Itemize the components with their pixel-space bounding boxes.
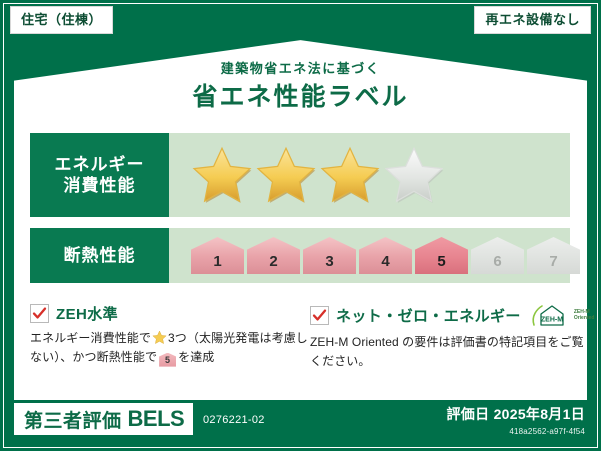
third-party-evaluation-badge: 第三者評価 BELS (14, 403, 193, 435)
zeh-standard-block: ZEH水準 エネルギー消費性能で3つ（太陽光発電は考慮しない）、かつ断熱性能で5… (30, 303, 308, 367)
star-rating (191, 145, 445, 205)
insulation-grade-2: 2 (247, 237, 300, 274)
energy-performance-row: エネルギー 消費性能 (30, 133, 570, 217)
zeh-m-logo: ZEH-M ZEH-M Oriented (531, 303, 595, 328)
energy-label-line1: エネルギー (55, 154, 145, 175)
insulation-label: 断熱性能 (64, 245, 136, 266)
net-zero-energy-checkbox[interactable] (310, 306, 329, 325)
insulation-performance-row: 断熱性能 1234567 (30, 228, 570, 283)
bels-certificate-number: 0276221-02 (203, 414, 265, 426)
zeh-m-sub-line2: Oriented (574, 315, 595, 321)
zeh-desc-grade-badge: 5 (159, 353, 176, 367)
page-title: 省エネ性能ラベル (0, 77, 601, 113)
bels-logo: BELS (128, 406, 185, 432)
energy-rating-area (169, 133, 570, 217)
star-filled-icon (191, 145, 253, 205)
insulation-grade-5: 5 (415, 237, 468, 274)
zeh-m-house-icon: ZEH-M (531, 303, 571, 328)
inline-star-icon (152, 330, 167, 345)
zeh-checkbox[interactable] (30, 304, 49, 323)
insulation-grade-1: 1 (191, 237, 244, 274)
zeh-desc-post: を達成 (178, 350, 214, 364)
insulation-grade-3: 3 (303, 237, 356, 274)
energy-performance-label-box: エネルギー 消費性能 (30, 133, 169, 217)
checkmark-icon (312, 308, 327, 323)
evaluation-date-value: 2025年8月1日 (494, 406, 585, 422)
zeh-standard-header: ZEH水準 (30, 303, 308, 324)
insulation-grade-scale: 1234567 (191, 237, 580, 274)
net-zero-energy-block: ネット・ゼロ・エネルギー ZEH-M ZEH-M Oriented ZEH-M … (310, 303, 588, 370)
evaluation-uuid: 418a2562-a97f-4f54 (446, 427, 585, 436)
insulation-rating-area: 1234567 (169, 228, 580, 283)
renewable-equipment-tag: 再エネ設備なし (474, 6, 591, 34)
star-filled-icon (319, 145, 381, 205)
zeh-standard-description: エネルギー消費性能で3つ（太陽光発電は考慮しない）、かつ断熱性能で5を達成 (30, 329, 308, 367)
insulation-grade-7: 7 (527, 237, 580, 274)
star-empty-icon (383, 145, 445, 205)
evaluation-date-label: 評価日 (446, 406, 489, 422)
evaluation-meta: 評価日 2025年8月1日 418a2562-a97f-4f54 (446, 404, 585, 436)
svg-text:ZEH-M: ZEH-M (541, 317, 563, 324)
zeh-desc-pre: エネルギー消費性能で (30, 331, 151, 345)
energy-performance-label: 住宅（住棟） 再エネ設備なし 建築物省エネ法に基づく 省エネ性能ラベル エネルギ… (0, 0, 601, 451)
net-zero-energy-title: ネット・ゼロ・エネルギー (336, 305, 521, 326)
insulation-grade-6: 6 (471, 237, 524, 274)
insulation-performance-label-box: 断熱性能 (30, 228, 169, 283)
checkmark-icon (32, 306, 47, 321)
insulation-grade-4: 4 (359, 237, 412, 274)
net-zero-energy-header: ネット・ゼロ・エネルギー ZEH-M ZEH-M Oriented (310, 303, 588, 328)
energy-label-line2: 消費性能 (64, 175, 136, 196)
net-zero-energy-description: ZEH-M Oriented の要件は評価書の特記項目をご覧ください。 (310, 333, 588, 370)
heading-subtitle: 建築物省エネ法に基づく (0, 58, 601, 77)
zeh-m-logo-sub: ZEH-M Oriented (574, 310, 595, 322)
evaluation-date: 評価日 2025年8月1日 (446, 404, 585, 424)
star-filled-icon (255, 145, 317, 205)
zeh-standard-title: ZEH水準 (56, 303, 118, 324)
building-type-tag: 住宅（住棟） (10, 6, 113, 34)
third-party-label: 第三者評価 (24, 406, 122, 433)
